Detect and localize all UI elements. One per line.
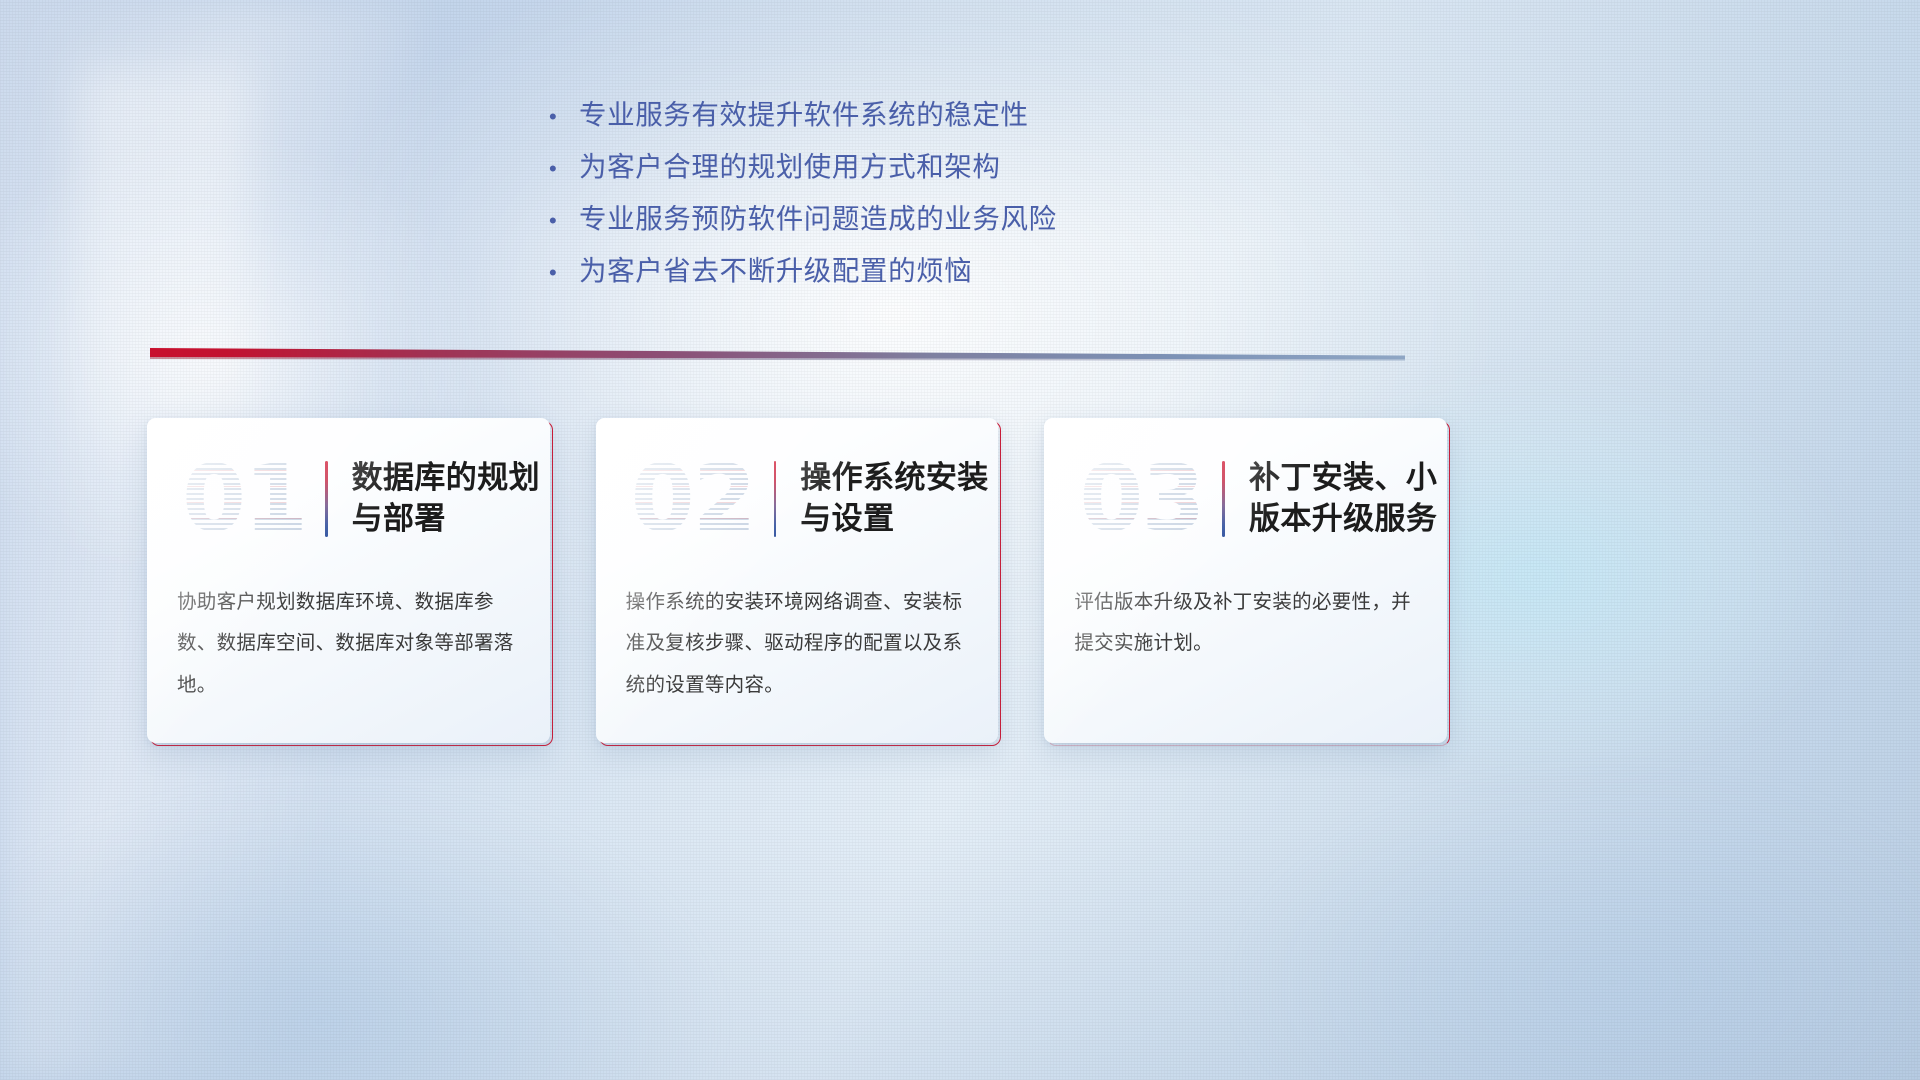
bullet-dot-icon: • — [545, 158, 579, 180]
card-surface: 03 03 补丁安装、小版本升级服务 评估版本升级及补丁安装的必要性，并提交实施… — [1044, 418, 1447, 743]
card-divider-bar — [1222, 461, 1225, 537]
card-description: 评估版本升级及补丁安装的必要性，并提交实施计划。 — [1074, 581, 1423, 664]
card-divider-bar — [774, 461, 777, 537]
benefits-bullet-list: • 专业服务有效提升软件系统的稳定性 • 为客户合理的规划使用方式和架构 • 专… — [545, 92, 1305, 300]
card-title: 数据库的规划与部署 — [352, 458, 548, 540]
card-title: 补丁安装、小版本升级服务 — [1249, 458, 1445, 540]
section-divider — [150, 345, 1405, 367]
divider-gradient-shape — [150, 345, 1405, 367]
service-cards: 01 01 数据库的规划与部署 协助客户规划数据库环境、数据库参数、数据库空间、… — [150, 421, 1450, 746]
card-number-watermark: 02 02 — [618, 447, 768, 551]
bullet-text: 专业服务有效提升软件系统的稳定性 — [579, 92, 1029, 132]
bullet-text: 为客户省去不断升级配置的烦恼 — [579, 248, 972, 288]
card-title: 操作系统安装与设置 — [800, 458, 996, 540]
bullet-text: 专业服务预防软件问题造成的业务风险 — [579, 196, 1057, 236]
list-item: • 专业服务预防软件问题造成的业务风险 — [545, 196, 1305, 248]
card-surface: 01 01 数据库的规划与部署 协助客户规划数据库环境、数据库参数、数据库空间、… — [147, 418, 550, 743]
service-card-03[interactable]: 03 03 补丁安装、小版本升级服务 评估版本升级及补丁安装的必要性，并提交实施… — [1047, 421, 1450, 746]
slide-stage: • 专业服务有效提升软件系统的稳定性 • 为客户合理的规划使用方式和架构 • 专… — [0, 0, 1920, 1080]
card-number: 01 — [182, 453, 306, 545]
bullet-dot-icon: • — [545, 106, 579, 128]
card-number: 03 — [1079, 453, 1203, 545]
service-card-02[interactable]: 02 02 操作系统安装与设置 操作系统的安装环境网络调查、安装标准及复核步骤、… — [599, 421, 1002, 746]
card-header: 01 01 数据库的规划与部署 — [147, 440, 550, 558]
bullet-dot-icon: • — [545, 210, 579, 232]
card-description: 协助客户规划数据库环境、数据库参数、数据库空间、数据库对象等部署落地。 — [177, 581, 526, 705]
card-number-watermark: 03 03 — [1066, 447, 1216, 551]
list-item: • 为客户省去不断升级配置的烦恼 — [545, 248, 1305, 300]
card-divider-bar — [325, 461, 328, 537]
service-card-01[interactable]: 01 01 数据库的规划与部署 协助客户规划数据库环境、数据库参数、数据库空间、… — [150, 421, 553, 746]
card-description: 操作系统的安装环境网络调查、安装标准及复核步骤、驱动程序的配置以及系统的设置等内… — [626, 581, 975, 705]
bullet-dot-icon: • — [545, 262, 579, 284]
list-item: • 专业服务有效提升软件系统的稳定性 — [545, 92, 1305, 144]
list-item: • 为客户合理的规划使用方式和架构 — [545, 144, 1305, 196]
card-number: 02 — [631, 453, 755, 545]
card-surface: 02 02 操作系统安装与设置 操作系统的安装环境网络调查、安装标准及复核步骤、… — [596, 418, 999, 743]
card-header: 02 02 操作系统安装与设置 — [596, 440, 999, 558]
card-header: 03 03 补丁安装、小版本升级服务 — [1044, 440, 1447, 558]
card-number-watermark: 01 01 — [169, 447, 319, 551]
bullet-text: 为客户合理的规划使用方式和架构 — [579, 144, 1001, 184]
